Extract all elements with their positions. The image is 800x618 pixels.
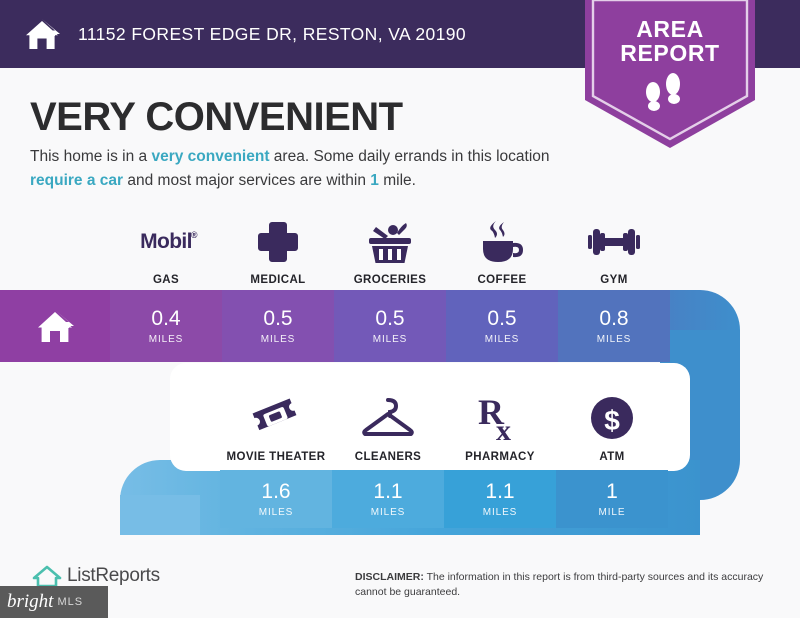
bright-mls-suffix: MLS: [57, 596, 83, 608]
distance-value: 0.8: [599, 308, 628, 329]
listreports-name: ListReports: [67, 565, 160, 587]
distance-value: 1.6: [261, 481, 290, 502]
distance-unit: MILE: [599, 507, 626, 518]
category-coffee: COFFEE: [446, 218, 558, 286]
distance-value: 0.5: [487, 308, 516, 329]
distance-movie-theater: 1.6 MILES: [220, 470, 332, 528]
distance-atm: 1 MILE: [556, 470, 668, 528]
dumbbell-icon: [588, 224, 640, 260]
category-cleaners: CLEANERS: [332, 385, 444, 463]
distance-value: 1: [606, 481, 618, 502]
mobil-logo-icon: Mobil®: [140, 218, 192, 265]
home-icon: [33, 306, 77, 346]
distance-unit: MILES: [149, 334, 184, 345]
coffee-cup-icon: [478, 219, 526, 265]
distance-value: 0.5: [375, 308, 404, 329]
row1-icon-list: Mobil® GAS MEDICAL: [110, 218, 670, 286]
distance-unit: MILES: [483, 507, 518, 518]
subtitle-highlight-convenient: very convenient: [151, 148, 269, 165]
distance-unit: MILES: [373, 334, 408, 345]
distance-value: 1.1: [485, 481, 514, 502]
svg-text:$: $: [604, 405, 620, 436]
page-subtitle: This home is in a very convenient area. …: [30, 145, 570, 193]
category-atm: $ ATM: [556, 385, 668, 463]
property-address: 11152 FOREST EDGE DR, RESTON, VA 20190: [78, 24, 466, 45]
distance-unit: MILES: [261, 334, 296, 345]
category-label: COFFEE: [477, 274, 526, 286]
badge-shield-shape: [585, 0, 755, 148]
distance-gas: 0.4 MILES: [110, 290, 222, 362]
subtitle-part1: This home is in a: [30, 148, 151, 165]
distance-unit: MILES: [597, 334, 632, 345]
distance-unit: MILES: [371, 507, 406, 518]
clothes-hanger-icon: [361, 396, 415, 440]
medical-cross-icon: [256, 220, 300, 264]
distance-coffee: 0.5 MILES: [446, 290, 558, 362]
home-icon: [22, 16, 62, 52]
grocery-basket-icon: [366, 219, 414, 265]
category-pharmacy: R x PHARMACY: [444, 385, 556, 463]
category-groceries: GROCERIES: [334, 218, 446, 286]
row2-icon-list: MOVIE THEATER CLEANERS R x PHARMACY: [220, 385, 668, 463]
distance-value: 0.4: [151, 308, 180, 329]
distance-pharmacy: 1.1 MILES: [444, 470, 556, 528]
category-gas: Mobil® GAS: [110, 218, 222, 286]
area-report-badge: AREA REPORT: [585, 0, 755, 148]
prescription-rx-icon: R x: [477, 394, 523, 442]
category-label: ATM: [599, 451, 624, 463]
category-label: GYM: [600, 274, 627, 286]
atm-dollar-icon: $: [589, 395, 635, 441]
disclaimer: DISCLAIMER: The information in this repo…: [355, 570, 775, 600]
subtitle-part2: area. Some daily errands in this locatio…: [270, 148, 550, 165]
distance-value: 1.1: [373, 481, 402, 502]
category-medical: MEDICAL: [222, 218, 334, 286]
category-label: MOVIE THEATER: [227, 451, 326, 463]
subtitle-highlight-car: require a car: [30, 172, 123, 189]
distance-value: 0.5: [263, 308, 292, 329]
category-label: GAS: [153, 274, 179, 286]
row2-distance-list: 1.6 MILES 1.1 MILES 1.1 MILES 1 MILE: [220, 470, 668, 528]
bright-mls-name: bright: [7, 591, 53, 613]
category-movie-theater: MOVIE THEATER: [220, 385, 332, 463]
distance-gym: 0.8 MILES: [558, 290, 670, 362]
subtitle-part4: mile.: [379, 172, 416, 189]
category-gym: GYM: [558, 218, 670, 286]
subtitle-part3: and most major services are within: [123, 172, 370, 189]
distance-medical: 0.5 MILES: [222, 290, 334, 362]
distance-cleaners: 1.1 MILES: [332, 470, 444, 528]
home-marker-cell: [0, 290, 110, 362]
subtitle-highlight-miles: 1: [370, 172, 379, 189]
movie-ticket-icon: [251, 395, 301, 441]
distance-groceries: 0.5 MILES: [334, 290, 446, 362]
category-label: PHARMACY: [465, 451, 535, 463]
row1-distance-list: 0.4 MILES 0.5 MILES 0.5 MILES 0.5 MILES …: [0, 290, 670, 362]
category-label: CLEANERS: [355, 451, 421, 463]
category-label: GROCERIES: [354, 274, 427, 286]
page-title: VERY CONVENIENT: [30, 95, 403, 140]
area-report-infographic: 11152 FOREST EDGE DR, RESTON, VA 20190 A…: [0, 0, 800, 618]
bright-mls-watermark: bright MLS: [0, 586, 108, 618]
disclaimer-label: DISCLAIMER:: [355, 571, 424, 583]
distance-unit: MILES: [259, 507, 294, 518]
category-label: MEDICAL: [250, 274, 305, 286]
distance-unit: MILES: [485, 334, 520, 345]
svg-text:x: x: [496, 414, 511, 442]
